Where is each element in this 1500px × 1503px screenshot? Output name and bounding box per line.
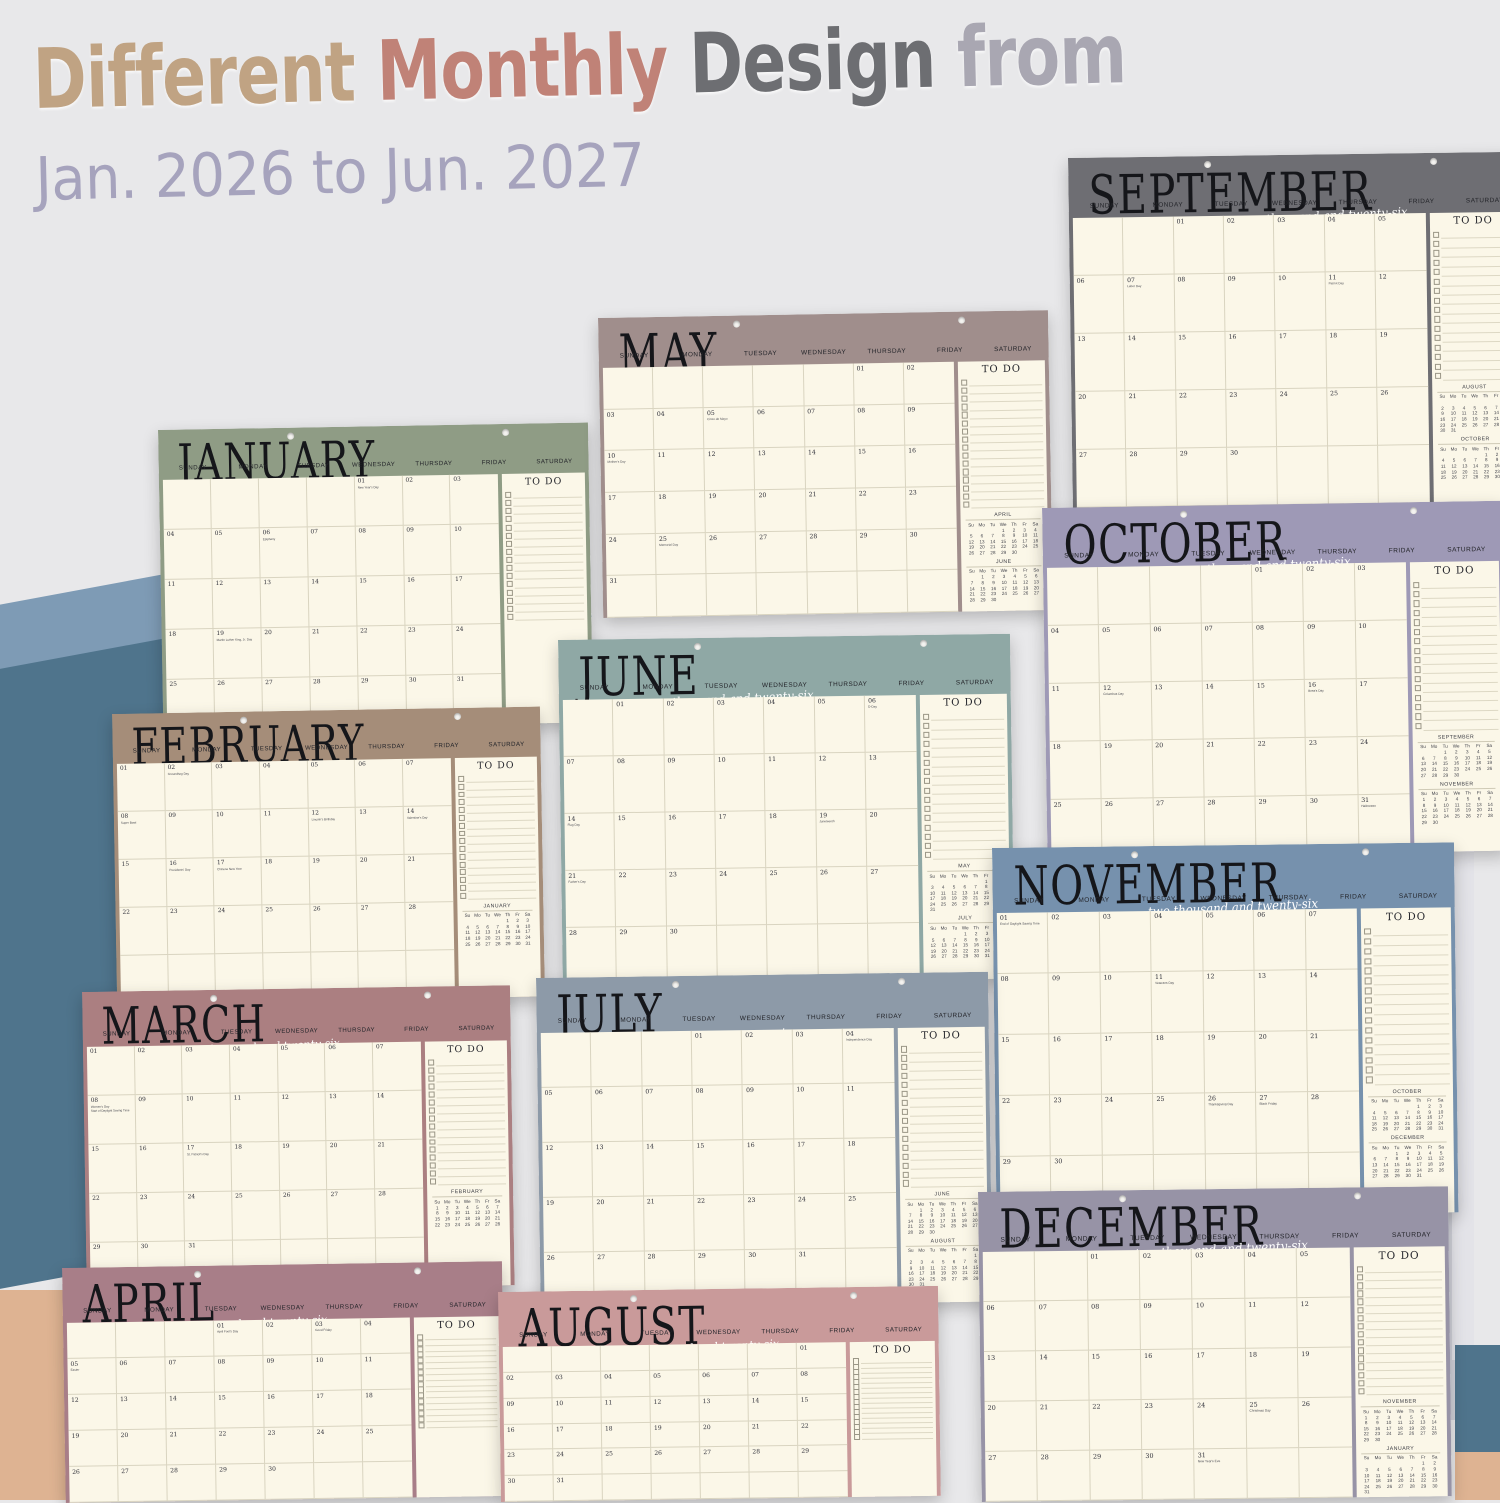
day-cell[interactable]: 03 xyxy=(212,761,261,810)
day-cell[interactable]: 29 xyxy=(798,1445,847,1472)
day-cell[interactable]: 18 xyxy=(1050,741,1102,800)
day-cell[interactable]: 01 xyxy=(613,699,664,757)
todo-checkbox[interactable] xyxy=(1434,326,1440,332)
day-cell[interactable]: 22 xyxy=(856,488,907,531)
day-cell[interactable]: 02 xyxy=(664,698,715,756)
calendar-sheet-june[interactable]: JUNEtwo thousand and twenty-sixSUNDAYMON… xyxy=(558,634,1015,985)
day-cell[interactable]: 09 xyxy=(1049,973,1101,1035)
day-cell[interactable]: 22 xyxy=(89,1193,137,1243)
todo-checklist[interactable] xyxy=(920,708,1010,860)
todo-checkbox[interactable] xyxy=(1415,695,1421,701)
todo-checkbox[interactable] xyxy=(1366,1027,1372,1033)
day-cell[interactable] xyxy=(1201,565,1253,624)
todo-checkbox[interactable] xyxy=(962,436,968,442)
day-cell[interactable]: 20 xyxy=(261,627,310,678)
todo-checkbox[interactable] xyxy=(902,1127,908,1133)
day-cell[interactable]: 22 xyxy=(798,1420,847,1447)
day-cell[interactable]: 20 xyxy=(700,1421,749,1448)
day-cell[interactable]: 21Father's Day xyxy=(565,870,616,928)
todo-checkbox[interactable] xyxy=(429,1115,435,1121)
day-cell[interactable]: 24 xyxy=(606,534,657,577)
day-cell[interactable] xyxy=(603,367,654,410)
calendar-sheet-november[interactable]: NOVEMBERtwo thousand and twenty-sixSUNDA… xyxy=(992,842,1458,1218)
todo-checkbox[interactable] xyxy=(1365,998,1371,1004)
day-cell[interactable]: 26Thanksgiving Day xyxy=(1205,1093,1257,1155)
day-cell[interactable]: 13 xyxy=(356,807,405,856)
day-cell[interactable] xyxy=(541,1032,592,1088)
day-cell[interactable]: 07 xyxy=(1036,1301,1089,1352)
day-cell[interactable]: 11 xyxy=(231,1093,279,1143)
todo-checkbox[interactable] xyxy=(1415,723,1421,729)
day-cell[interactable]: 19 xyxy=(309,856,358,905)
day-cell[interactable]: 01 xyxy=(117,763,166,812)
todo-write-line[interactable] xyxy=(971,499,1044,508)
day-cell[interactable]: 24 xyxy=(185,1192,233,1242)
day-cell[interactable] xyxy=(163,479,212,530)
day-cell[interactable]: 05 xyxy=(1099,624,1151,683)
day-cell[interactable]: 05Easter xyxy=(67,1358,117,1395)
todo-checkbox[interactable] xyxy=(429,1107,435,1113)
day-cell[interactable]: 18 xyxy=(362,1390,412,1427)
todo-write-line[interactable] xyxy=(1423,720,1498,731)
day-cell[interactable]: 02 xyxy=(503,1372,552,1399)
day-cell[interactable]: 18 xyxy=(655,491,706,534)
day-cell[interactable] xyxy=(1299,1447,1352,1498)
todo-write-line[interactable] xyxy=(1366,1386,1443,1395)
todo-checkbox[interactable] xyxy=(1357,1315,1363,1321)
day-cell[interactable]: 09 xyxy=(503,1398,552,1425)
todo-checkbox[interactable] xyxy=(428,1091,434,1097)
day-cell[interactable]: 24 xyxy=(716,868,767,926)
todo-checkbox[interactable] xyxy=(1357,1331,1363,1337)
day-cell[interactable]: 23 xyxy=(1306,737,1358,796)
day-cell[interactable]: 19 xyxy=(279,1141,327,1191)
day-cell[interactable]: 07 xyxy=(1202,623,1254,682)
todo-checkbox[interactable] xyxy=(1365,1017,1371,1023)
day-cell[interactable]: 11 xyxy=(765,753,816,811)
day-cell[interactable]: 02 xyxy=(904,362,955,405)
day-cell[interactable] xyxy=(1123,217,1174,276)
todo-checkbox[interactable] xyxy=(924,843,930,849)
day-cell[interactable]: 08 xyxy=(1088,1300,1141,1351)
day-cell[interactable]: 04 xyxy=(654,408,705,451)
todo-checkbox[interactable] xyxy=(1357,1299,1363,1305)
day-cell[interactable]: 08Women's Day Start of Daylight Saving T… xyxy=(88,1095,136,1145)
todo-checkbox[interactable] xyxy=(429,1155,435,1161)
day-cell[interactable]: 03Good Friday xyxy=(312,1318,362,1355)
day-cell[interactable]: 02 xyxy=(742,1029,793,1085)
todo-checkbox[interactable] xyxy=(901,1064,907,1070)
todo-checkbox[interactable] xyxy=(1365,1007,1371,1013)
todo-checkbox[interactable] xyxy=(459,854,465,860)
day-cell[interactable]: 17 xyxy=(1101,1033,1153,1095)
day-cell[interactable]: 12 xyxy=(1376,271,1427,330)
calendar-sheet-may[interactable]: MAYtwo thousand and twenty-sixSUNDAYMOND… xyxy=(598,310,1053,618)
day-cell[interactable] xyxy=(753,364,804,407)
todo-item[interactable] xyxy=(1415,720,1498,731)
day-cell[interactable]: 11 xyxy=(654,449,705,492)
day-cell[interactable]: 25 xyxy=(1327,388,1378,447)
todo-checkbox[interactable] xyxy=(902,1145,908,1151)
day-cell[interactable]: 18 xyxy=(844,1138,895,1194)
day-cell[interactable]: 26 xyxy=(706,532,757,575)
day-cell[interactable]: 17 xyxy=(553,1423,602,1450)
day-cell[interactable]: 05 xyxy=(542,1087,593,1143)
day-cell[interactable]: 24 xyxy=(215,905,264,954)
todo-checkbox[interactable] xyxy=(901,1055,907,1061)
day-cell[interactable]: 20 xyxy=(118,1429,168,1466)
day-cell[interactable]: 14 xyxy=(166,1393,216,1430)
day-cell[interactable]: 28 xyxy=(375,1189,423,1239)
day-cell[interactable]: 04Independence Day xyxy=(843,1028,894,1084)
day-cell[interactable]: 09 xyxy=(1304,621,1356,680)
day-cell[interactable]: 15 xyxy=(88,1144,136,1194)
day-cell[interactable] xyxy=(650,1344,699,1371)
day-cell[interactable]: 12Columbus Day xyxy=(1100,682,1152,741)
todo-item[interactable] xyxy=(963,499,1044,509)
day-cell[interactable]: 12Lincoln's Birthday xyxy=(308,808,357,857)
day-cell[interactable]: 10 xyxy=(313,1354,363,1391)
day-cell[interactable]: 15 xyxy=(215,1392,265,1429)
day-cell[interactable]: 27 xyxy=(985,1451,1038,1502)
todo-checkbox[interactable] xyxy=(902,1162,908,1168)
day-cell[interactable]: 29 xyxy=(1090,1450,1143,1501)
day-cell[interactable]: 02 xyxy=(402,475,451,526)
day-cell[interactable]: 01 xyxy=(692,1030,743,1086)
day-cell[interactable]: 01End of Daylight Saving Time xyxy=(997,912,1049,974)
day-cell[interactable]: 22 xyxy=(357,626,406,677)
day-cell[interactable] xyxy=(563,699,614,757)
todo-checkbox[interactable] xyxy=(1357,1282,1363,1288)
day-cell[interactable]: 21 xyxy=(1037,1401,1090,1452)
day-cell[interactable]: 15 xyxy=(1175,332,1226,391)
todo-checklist[interactable] xyxy=(1410,576,1500,731)
day-cell[interactable]: 08 xyxy=(1174,274,1225,333)
todo-panel[interactable]: TO DO xyxy=(414,1316,502,1497)
day-cell[interactable]: 30 xyxy=(907,528,958,571)
day-cell[interactable]: 27 xyxy=(358,903,407,952)
day-cell[interactable]: 08 xyxy=(693,1085,744,1141)
day-cell[interactable]: 28 xyxy=(1038,1451,1091,1502)
day-cell[interactable]: 14Flag Day xyxy=(564,813,615,871)
todo-checkbox[interactable] xyxy=(460,877,466,883)
day-cell[interactable]: 14 xyxy=(1036,1351,1089,1402)
day-cell[interactable]: 27 xyxy=(118,1465,168,1502)
day-cell[interactable]: 19 xyxy=(651,1422,700,1449)
day-cell[interactable]: 18 xyxy=(766,810,817,868)
day-cell[interactable] xyxy=(165,1321,215,1358)
day-cell[interactable]: 13 xyxy=(700,1395,749,1422)
day-cell[interactable] xyxy=(750,1472,799,1499)
day-cell[interactable]: 14Valentine's Day xyxy=(404,806,453,855)
day-cell[interactable]: 11 xyxy=(602,1397,651,1424)
day-cell[interactable]: 27 xyxy=(700,1447,749,1474)
day-cell[interactable]: 23 xyxy=(504,1450,553,1477)
day-cell[interactable]: 22 xyxy=(1255,738,1307,797)
todo-checkbox[interactable] xyxy=(923,769,929,775)
todo-write-line[interactable] xyxy=(438,1177,506,1186)
day-cell[interactable]: 30 xyxy=(505,1475,554,1502)
todo-checkbox[interactable] xyxy=(506,524,512,530)
day-cell[interactable]: 16 xyxy=(264,1391,314,1428)
todo-checkbox[interactable] xyxy=(1433,279,1439,285)
day-cell[interactable]: 11Patriot Day xyxy=(1325,272,1376,331)
todo-checkbox[interactable] xyxy=(962,412,968,418)
day-cell[interactable]: 20 xyxy=(1256,1031,1308,1093)
day-cell[interactable]: 10 xyxy=(451,524,500,575)
todo-checkbox[interactable] xyxy=(901,1073,907,1079)
todo-checkbox[interactable] xyxy=(901,1046,907,1052)
day-cell[interactable]: 21 xyxy=(167,1429,217,1466)
day-cell[interactable]: 09 xyxy=(165,810,214,859)
day-cell[interactable]: 21 xyxy=(374,1140,422,1190)
todo-checkbox[interactable] xyxy=(1358,1388,1364,1394)
day-cell[interactable] xyxy=(703,365,754,408)
todo-checkbox[interactable] xyxy=(1414,657,1420,663)
day-cell[interactable] xyxy=(1328,446,1379,505)
todo-checkbox[interactable] xyxy=(1366,1067,1372,1073)
day-cell[interactable]: 06 xyxy=(1150,624,1202,683)
day-cell[interactable]: 27 xyxy=(328,1189,376,1239)
day-cell[interactable]: 26 xyxy=(1377,387,1428,446)
day-cell[interactable]: 23 xyxy=(1226,389,1277,448)
day-cell[interactable]: 20 xyxy=(985,1401,1038,1452)
todo-checkbox[interactable] xyxy=(458,776,464,782)
day-cell[interactable]: 01 xyxy=(1252,564,1304,623)
todo-write-line[interactable] xyxy=(862,1433,933,1439)
day-cell[interactable]: 09 xyxy=(1140,1299,1193,1350)
day-cell[interactable]: 15 xyxy=(356,576,405,627)
todo-checkbox[interactable] xyxy=(429,1131,435,1137)
todo-checkbox[interactable] xyxy=(924,806,930,812)
todo-checkbox[interactable] xyxy=(1413,582,1419,588)
day-cell[interactable]: 22 xyxy=(616,870,667,928)
day-cell[interactable] xyxy=(1098,566,1150,625)
day-cell[interactable]: 21 xyxy=(405,854,454,903)
todo-checkbox[interactable] xyxy=(460,869,466,875)
todo-checkbox[interactable] xyxy=(1434,363,1440,369)
todo-checkbox[interactable] xyxy=(428,1083,434,1089)
todo-checkbox[interactable] xyxy=(1414,648,1420,654)
todo-checkbox[interactable] xyxy=(923,750,929,756)
day-cell[interactable]: 05 xyxy=(1297,1247,1350,1298)
day-cell[interactable]: 21 xyxy=(1307,1031,1359,1093)
day-cell[interactable]: 29 xyxy=(856,529,907,572)
day-cell[interactable]: 12 xyxy=(815,753,866,811)
day-cell[interactable]: 16 xyxy=(905,445,956,488)
day-cell[interactable]: 09 xyxy=(904,403,955,446)
day-cell[interactable] xyxy=(116,1321,166,1358)
day-cell[interactable]: 04 xyxy=(1325,214,1376,273)
day-cell[interactable]: 23 xyxy=(1050,1095,1102,1157)
day-cell[interactable]: 11 xyxy=(362,1354,412,1391)
day-cell[interactable]: 17St. Patrick's Day xyxy=(184,1143,232,1193)
day-cell[interactable]: 14 xyxy=(805,447,856,490)
todo-checkbox[interactable] xyxy=(1433,288,1439,294)
month-grid[interactable]: 01020304050607Labor Day08091011Patriot D… xyxy=(1073,213,1430,508)
todo-checkbox[interactable] xyxy=(962,453,968,459)
todo-checkbox[interactable] xyxy=(429,1147,435,1153)
day-cell[interactable]: 19Martin Luther King, Jr. Day xyxy=(213,628,262,679)
day-cell[interactable]: 22 xyxy=(1176,390,1227,449)
calendar-sheet-march[interactable]: MARCHtwo thousand and twenty-sixSUNDAYMO… xyxy=(82,985,515,1292)
day-cell[interactable] xyxy=(857,571,908,614)
todo-item[interactable] xyxy=(1366,1074,1450,1085)
day-cell[interactable] xyxy=(1047,567,1099,626)
todo-checkbox[interactable] xyxy=(507,549,513,555)
day-cell[interactable]: 15 xyxy=(855,446,906,489)
todo-checkbox[interactable] xyxy=(1414,629,1420,635)
day-cell[interactable]: 24 xyxy=(1102,1094,1154,1156)
day-cell[interactable]: 04 xyxy=(164,529,213,580)
todo-write-line[interactable] xyxy=(1443,370,1500,380)
todo-checkbox[interactable] xyxy=(1415,685,1421,691)
day-cell[interactable] xyxy=(807,572,858,615)
day-cell[interactable]: 17 xyxy=(715,811,766,869)
day-cell[interactable]: 24 xyxy=(314,1426,364,1463)
todo-checkbox[interactable] xyxy=(429,1123,435,1129)
day-cell[interactable]: 03 xyxy=(793,1029,844,1085)
day-cell[interactable]: 18 xyxy=(1326,330,1377,389)
day-cell[interactable]: 25 xyxy=(602,1448,651,1475)
todo-checkbox[interactable] xyxy=(1358,1380,1364,1386)
todo-checkbox[interactable] xyxy=(961,380,967,386)
todo-checkbox[interactable] xyxy=(902,1180,908,1186)
todo-checkbox[interactable] xyxy=(506,533,512,539)
todo-write-line[interactable] xyxy=(427,1421,498,1428)
todo-checkbox[interactable] xyxy=(901,1082,907,1088)
day-cell[interactable]: 21 xyxy=(1126,391,1177,450)
day-cell[interactable]: 13 xyxy=(326,1091,374,1141)
todo-checkbox[interactable] xyxy=(428,1067,434,1073)
day-cell[interactable] xyxy=(701,1473,750,1500)
day-cell[interactable]: 16 xyxy=(404,575,453,626)
day-cell[interactable]: 12 xyxy=(542,1142,593,1198)
day-cell[interactable]: 16Presidents' Day xyxy=(166,858,215,907)
day-cell[interactable]: 12 xyxy=(1298,1297,1351,1348)
day-cell[interactable]: 19 xyxy=(1377,329,1428,388)
todo-checkbox[interactable] xyxy=(1413,591,1419,597)
todo-checkbox[interactable] xyxy=(1357,1339,1363,1345)
day-cell[interactable]: 03 xyxy=(604,409,655,452)
day-cell[interactable]: 11 xyxy=(261,809,310,858)
todo-checklist[interactable] xyxy=(958,374,1047,508)
todo-checkbox[interactable] xyxy=(1434,344,1440,350)
todo-checkbox[interactable] xyxy=(1358,1364,1364,1370)
todo-checkbox[interactable] xyxy=(430,1179,436,1185)
day-cell[interactable]: 02Groundhog Day xyxy=(165,762,214,811)
todo-panel[interactable]: TO DOSEPTEMBERSuMoTuWeThFrSa 12345678910… xyxy=(1410,561,1500,852)
day-cell[interactable]: 04 xyxy=(1048,625,1100,684)
todo-checkbox[interactable] xyxy=(460,893,466,899)
todo-checkbox[interactable] xyxy=(506,500,512,506)
day-cell[interactable]: 01New Year's Day xyxy=(354,476,403,527)
todo-checkbox[interactable] xyxy=(963,477,969,483)
todo-checkbox[interactable] xyxy=(458,784,464,790)
todo-checkbox[interactable] xyxy=(963,469,969,475)
day-cell[interactable]: 07 xyxy=(373,1042,421,1092)
todo-item[interactable] xyxy=(430,1177,506,1186)
day-cell[interactable]: 19 xyxy=(69,1430,119,1467)
day-cell[interactable] xyxy=(307,477,356,528)
day-cell[interactable]: 07 xyxy=(165,1357,215,1394)
day-cell[interactable]: 20 xyxy=(327,1140,375,1190)
day-cell[interactable]: 16 xyxy=(136,1143,184,1193)
day-cell[interactable]: 06 xyxy=(355,759,404,808)
month-grid[interactable]: 0102030405060708Women's Day Start of Day… xyxy=(87,1042,425,1292)
day-cell[interactable]: 17 xyxy=(1193,1349,1246,1400)
todo-checkbox[interactable] xyxy=(459,838,465,844)
day-cell[interactable] xyxy=(601,1345,650,1372)
todo-checkbox[interactable] xyxy=(1433,231,1439,237)
day-cell[interactable] xyxy=(363,1462,413,1499)
day-cell[interactable]: 03 xyxy=(1274,214,1325,273)
day-cell[interactable]: 09 xyxy=(263,1355,313,1392)
month-grid[interactable]: 010203040506070809101112Columbus Day1314… xyxy=(1047,562,1410,858)
day-cell[interactable]: 03 xyxy=(1100,911,1152,973)
day-cell[interactable]: 10 xyxy=(552,1397,601,1424)
todo-panel[interactable]: TO DOJANUARYSuMoTuWeThFrSa 1234567891011… xyxy=(455,757,541,998)
day-cell[interactable]: 08 xyxy=(797,1368,846,1395)
day-cell[interactable]: 17 xyxy=(605,492,656,535)
day-cell[interactable]: 20 xyxy=(755,489,806,532)
todo-checkbox[interactable] xyxy=(1435,373,1441,379)
day-cell[interactable]: 19 xyxy=(1298,1347,1351,1398)
day-cell[interactable] xyxy=(552,1346,601,1373)
todo-checkbox[interactable] xyxy=(923,741,929,747)
day-cell[interactable]: 13 xyxy=(866,752,917,810)
day-cell[interactable]: 03 xyxy=(552,1371,601,1398)
day-cell[interactable]: 12 xyxy=(1203,971,1255,1033)
day-cell[interactable]: 22 xyxy=(999,1095,1051,1157)
todo-checkbox[interactable] xyxy=(459,830,465,836)
todo-checkbox[interactable] xyxy=(507,581,513,587)
day-cell[interactable]: 04 xyxy=(1245,1248,1298,1299)
day-cell[interactable]: 04 xyxy=(601,1371,650,1398)
day-cell[interactable]: 27 xyxy=(756,531,807,574)
day-cell[interactable] xyxy=(1378,445,1429,504)
day-cell[interactable]: 10 xyxy=(1355,620,1407,679)
todo-checkbox[interactable] xyxy=(508,614,514,620)
day-cell[interactable] xyxy=(314,1462,364,1499)
todo-checkbox[interactable] xyxy=(1413,610,1419,616)
day-cell[interactable]: 14 xyxy=(749,1394,798,1421)
month-grid[interactable]: 010203040506D-Day0708091011121314Flag Da… xyxy=(563,695,919,985)
day-cell[interactable]: 21 xyxy=(806,489,857,532)
day-cell[interactable]: 05 xyxy=(308,760,357,809)
month-grid[interactable]: 0102030405Cinco de Mayo0607080910Mother'… xyxy=(603,362,958,618)
day-cell[interactable]: 08 xyxy=(854,404,905,447)
day-cell[interactable]: 31 xyxy=(554,1475,603,1502)
day-cell[interactable]: 19 xyxy=(543,1197,594,1253)
todo-checkbox[interactable] xyxy=(1357,1307,1363,1313)
day-cell[interactable]: 19 xyxy=(1204,1032,1256,1094)
day-cell[interactable]: 17 xyxy=(1276,330,1327,389)
todo-checklist[interactable] xyxy=(414,1330,500,1428)
day-cell[interactable]: 13 xyxy=(1255,970,1307,1032)
day-cell[interactable]: 04 xyxy=(1151,910,1203,972)
todo-checkbox[interactable] xyxy=(507,565,513,571)
todo-checkbox[interactable] xyxy=(508,606,514,612)
day-cell[interactable]: 24 xyxy=(453,624,502,675)
day-cell[interactable]: 26 xyxy=(280,1190,328,1240)
todo-item[interactable] xyxy=(460,891,536,900)
todo-checkbox[interactable] xyxy=(1433,260,1439,266)
todo-checkbox[interactable] xyxy=(506,541,512,547)
day-cell[interactable]: 05 xyxy=(278,1043,326,1093)
todo-checkbox[interactable] xyxy=(902,1153,908,1159)
day-cell[interactable]: 01 xyxy=(797,1342,846,1369)
